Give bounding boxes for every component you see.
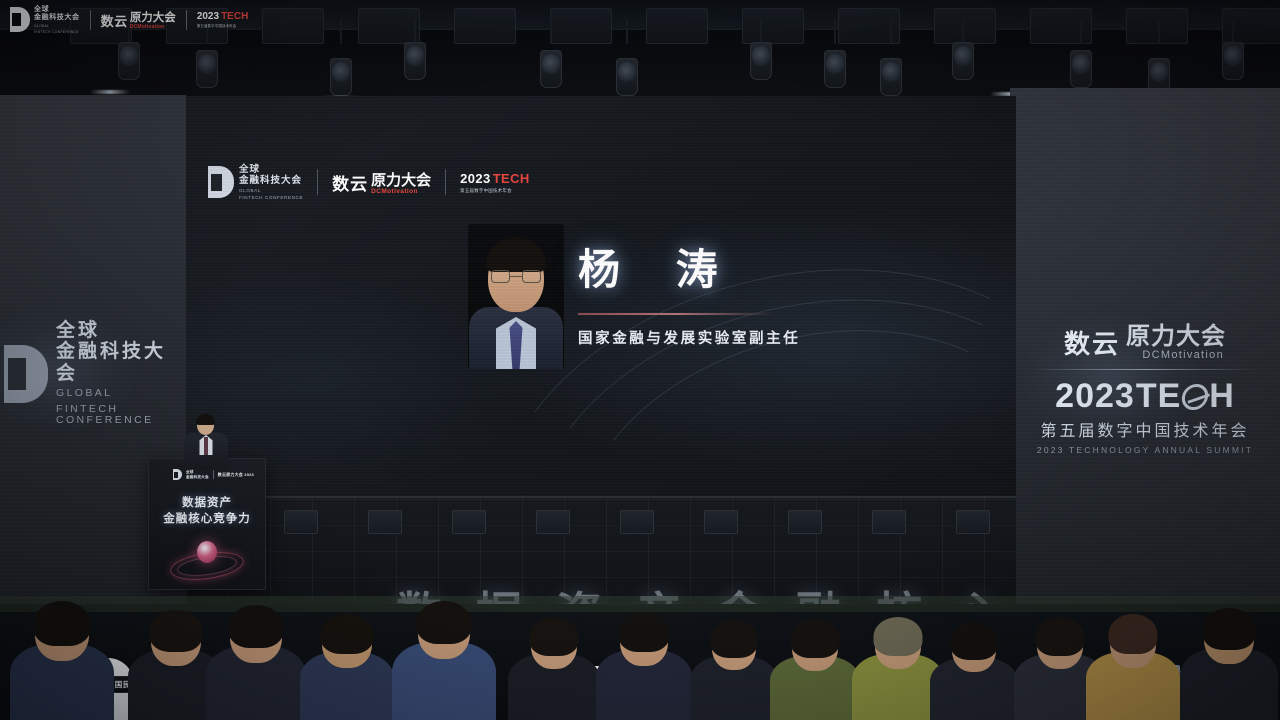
light-lens-icon [1224, 46, 1242, 66]
audience-member-hair [1203, 608, 1256, 650]
audience-member [300, 615, 394, 720]
light-lens-icon [198, 54, 216, 74]
truss-box [1030, 8, 1092, 44]
stage-vent [452, 510, 486, 534]
light-lens-icon [120, 46, 138, 66]
audience-member-hair [34, 601, 91, 646]
audience-member [392, 602, 496, 720]
podium-title: 数据资产 金融核心竞争力 [149, 495, 265, 528]
right-wall-tech-right: H [1209, 377, 1235, 416]
audience-member-hair [1109, 614, 1158, 655]
audience-member-hair [951, 622, 998, 659]
watermark-year: 2023 [197, 11, 219, 22]
left-wall-cn-line1: 全球 [56, 320, 186, 341]
light-lens-icon [406, 46, 424, 66]
light-lens-icon [618, 62, 636, 82]
audience-member [596, 613, 692, 720]
audience-member [206, 606, 306, 720]
watermark-dcmotivation: DCMotivation [130, 24, 176, 30]
truss-box [358, 8, 420, 44]
audience-member-hair [229, 605, 284, 649]
light-cable [1080, 20, 1082, 44]
light-cable [414, 20, 416, 44]
main-led-screen: 全球 金融科技大会 GLOBAL FINTECH CONFERENCE 数云 原… [186, 96, 1016, 496]
watermark-gfc-en2: FINTECH CONFERENCE [34, 30, 80, 34]
watermark-divider-1 [90, 10, 91, 30]
light-lens-icon [1072, 54, 1090, 74]
audience-member-hair [321, 614, 374, 655]
light-cable [834, 20, 836, 44]
left-wall-branding: 全球 金融科技大会 GLOBAL FINTECH CONFERENCE [4, 320, 186, 427]
truss-box [262, 8, 324, 44]
stage-vent [788, 510, 822, 534]
light-lens-icon [1150, 62, 1168, 82]
stage-vent [620, 510, 654, 534]
watermark-gfc-logo: 全球 金融科技大会 GLOBAL FINTECH CONFERENCE [10, 6, 80, 34]
truss-box [1126, 8, 1188, 44]
live-speaker-tie [204, 437, 208, 455]
left-wall-en-line2: FINTECH CONFERENCE [56, 404, 186, 428]
stage-vent [956, 510, 990, 534]
podium-logo-right: 数云原力大会 2023 [218, 472, 254, 478]
screen-scanlines [186, 96, 1016, 496]
podium-gfc-mark-icon [173, 469, 182, 480]
audience-member-hair [619, 612, 670, 653]
watermark-shuyun: 数云 [101, 11, 128, 30]
audience-member-hair [1036, 617, 1085, 656]
light-lens-icon [882, 62, 900, 82]
podium: 全球 金融科技大会 数云原力大会 2023 数据资产 金融核心竞争力 [148, 458, 266, 590]
right-wall-tech-left: TE [1136, 377, 1181, 416]
tech-e-swirl-icon [1180, 384, 1210, 410]
audience-member [770, 620, 860, 720]
light-cable [760, 20, 762, 44]
light-lens-icon [826, 54, 844, 74]
watermark-gfc-mark-icon [10, 7, 30, 32]
truss-box [742, 8, 804, 44]
right-wall-yuanli: 原力大会 [1126, 316, 1226, 351]
stage-vent [536, 510, 570, 534]
light-cable [626, 20, 628, 44]
light-lens-icon [752, 46, 770, 66]
gfc-logo-mark-icon [4, 345, 48, 403]
light-cable [340, 20, 342, 44]
truss-box [550, 8, 612, 44]
light-lens-icon [542, 54, 560, 74]
audience-member-hair [791, 619, 840, 658]
live-speaker-hair [196, 414, 215, 425]
right-wall-shuyun: 数云 [1064, 324, 1120, 361]
stage-vent [704, 510, 738, 534]
left-wall-en-line1: GLOBAL [56, 388, 186, 400]
stage-vent [368, 510, 402, 534]
podium-logo-strip: 全球 金融科技大会 数云原力大会 2023 [173, 469, 254, 480]
conference-photo: 全球 金融科技大会 GLOBAL FINTECH CONFERENCE 数云 原… [0, 0, 1280, 720]
light-cable [1232, 20, 1234, 44]
truss-box [1222, 8, 1280, 44]
light-cable [550, 20, 552, 44]
watermark-divider-2 [186, 10, 187, 30]
light-cable [962, 20, 964, 44]
watermark-gfc-en1: GLOBAL [34, 24, 80, 28]
light-lens-icon [954, 46, 972, 66]
audience-member-hair [711, 620, 758, 657]
watermark-yuanli: 原力大会 [130, 9, 176, 25]
left-wall-cn-line2: 金融科技大会 [56, 341, 186, 384]
truss-box [934, 8, 996, 44]
broadcast-watermark: 全球 金融科技大会 GLOBAL FINTECH CONFERENCE 数云 原… [10, 6, 248, 34]
truss-box [646, 8, 708, 44]
audience-member-hair [417, 601, 472, 645]
audience-member-hair [530, 617, 579, 656]
audience-member [690, 621, 778, 720]
light-lens-icon [332, 62, 350, 82]
stage-vent [872, 510, 906, 534]
live-speaker [184, 416, 228, 468]
watermark-shuyun-logo: 数云 原力大会 DCMotivation [101, 9, 176, 30]
podium-orb-graphic [170, 539, 244, 581]
audience-member [1180, 609, 1278, 720]
truss-box [454, 8, 516, 44]
light-cable [890, 20, 892, 44]
watermark-tech: TECH [221, 11, 248, 22]
stage-vent [284, 510, 318, 534]
audience-member-hair [150, 610, 203, 652]
podium-title-line2: 金融核心竞争力 [149, 511, 265, 527]
audience-member [10, 602, 114, 720]
light-cable [1158, 20, 1160, 44]
podium-logo-cn2: 金融科技大会 [186, 475, 209, 479]
orb-sphere-icon [197, 541, 217, 563]
audience-member [1086, 615, 1180, 720]
watermark-sub: 第五届数字中国技术年会 [197, 23, 248, 28]
watermark-tech-logo: 2023 TECH 第五届数字中国技术年会 [197, 11, 248, 28]
ceiling-light-glow [90, 90, 130, 94]
podium-logo-divider [213, 470, 214, 479]
podium-title-line1: 数据资产 [149, 495, 265, 511]
audience-member [930, 623, 1018, 720]
audience-member-hair [874, 617, 923, 656]
audience-member [508, 618, 600, 720]
watermark-gfc-cn2: 金融科技大会 [34, 14, 80, 22]
